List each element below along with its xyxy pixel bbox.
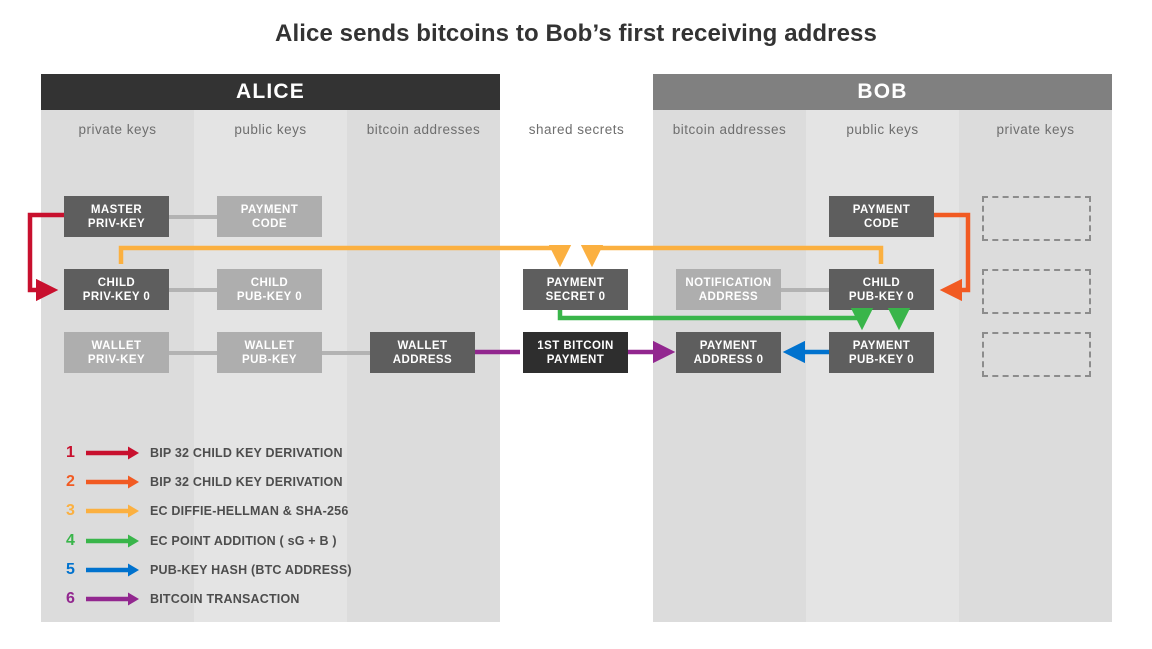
legend-number-6: 6 xyxy=(66,590,82,608)
legend: 1 BIP 32 CHILD KEY DERIVATION 2 BIP 32 C… xyxy=(66,438,352,614)
arrow-2-bip32-child-key-derivation-bob xyxy=(934,215,968,290)
legend-arrow-3-icon xyxy=(84,502,140,520)
legend-row-3: 3 EC DIFFIE-HELLMAN & SHA-256 xyxy=(66,497,352,526)
legend-number-2: 2 xyxy=(66,473,82,491)
legend-label-1: BIP 32 CHILD KEY DERIVATION xyxy=(150,446,343,460)
legend-arrow-2-icon xyxy=(84,473,140,491)
arrow-3a-ecdh-alice-child-priv-to-payment-secret xyxy=(121,248,560,264)
legend-number-1: 1 xyxy=(66,444,82,462)
legend-row-2: 2 BIP 32 CHILD KEY DERIVATION xyxy=(66,467,352,496)
legend-row-1: 1 BIP 32 CHILD KEY DERIVATION xyxy=(66,438,352,467)
legend-arrow-4-icon xyxy=(84,532,140,550)
arrow-1-bip32-child-key-derivation-alice xyxy=(30,215,64,290)
legend-number-5: 5 xyxy=(66,561,82,579)
legend-row-5: 5 PUB-KEY HASH (BTC ADDRESS) xyxy=(66,555,352,584)
arrow-4a-ec-point-addition-secret-to-payment-pubkey xyxy=(560,310,862,324)
legend-label-6: BITCOIN TRANSACTION xyxy=(150,592,300,606)
legend-arrow-5-icon xyxy=(84,561,140,579)
legend-row-4: 4 EC POINT ADDITION ( sG + B ) xyxy=(66,526,352,555)
legend-number-4: 4 xyxy=(66,532,82,550)
legend-label-5: PUB-KEY HASH (BTC ADDRESS) xyxy=(150,563,352,577)
legend-label-3: EC DIFFIE-HELLMAN & SHA-256 xyxy=(150,504,348,518)
legend-row-6: 6 BITCOIN TRANSACTION xyxy=(66,584,352,613)
legend-arrow-1-icon xyxy=(84,444,140,462)
legend-number-3: 3 xyxy=(66,502,82,520)
arrow-3b-ecdh-bob-child-pub-to-payment-secret xyxy=(592,248,881,264)
legend-label-2: BIP 32 CHILD KEY DERIVATION xyxy=(150,475,343,489)
legend-arrow-6-icon xyxy=(84,590,140,608)
legend-label-4: EC POINT ADDITION ( sG + B ) xyxy=(150,534,337,548)
